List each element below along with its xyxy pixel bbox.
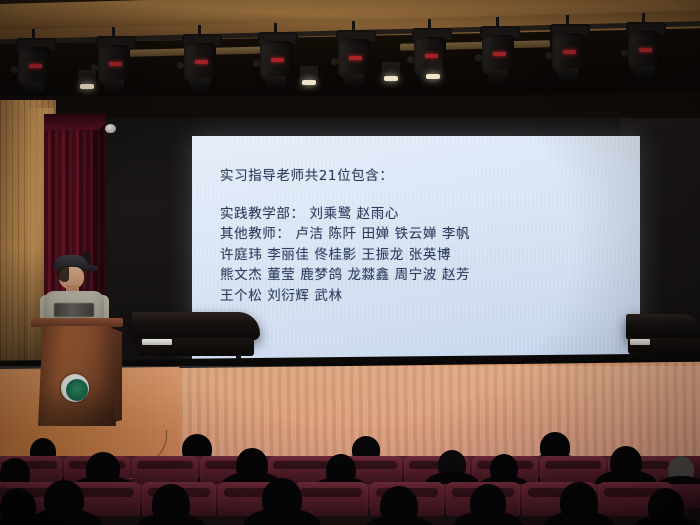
fixture-lens	[634, 66, 654, 80]
fixture-body	[628, 31, 660, 71]
piano-lid	[132, 312, 260, 340]
stage-light-fixture	[624, 22, 664, 84]
ceiling-spotlight-box	[300, 66, 318, 86]
slide-content: 实习指导老师共21位包含： 实践教学部： 刘乘鹭 赵雨心 其他教师： 卢洁 陈阡…	[220, 166, 626, 306]
audience-head	[470, 484, 506, 522]
slide-title: 实习指导老师共21位包含：	[220, 166, 626, 187]
fixture-lens	[344, 74, 364, 88]
audience-area	[0, 432, 700, 525]
audience-head	[44, 480, 84, 520]
fixture-knob	[407, 56, 414, 63]
fixture-knob	[475, 54, 482, 61]
ceiling-spotlight-box	[424, 60, 442, 80]
fixture-knob	[545, 52, 552, 59]
ceiling-spotlight-box	[382, 62, 400, 82]
stage-light-fixture	[180, 34, 220, 96]
fixture-led-indicator	[639, 48, 652, 52]
audience-head	[152, 484, 190, 524]
audience-head	[236, 448, 268, 482]
fixture-body	[18, 47, 50, 87]
fixture-led-indicator	[271, 58, 284, 62]
stage-light-fixture	[94, 36, 134, 98]
slide-line-3: 许庭玮 李丽佳 佟桂影 王振龙 张英博	[220, 245, 626, 266]
podium-top-surface	[31, 318, 123, 327]
fixture-lens	[24, 82, 44, 96]
audience-head	[490, 454, 518, 484]
audience-head	[262, 478, 302, 520]
fixture-led-indicator	[493, 52, 506, 56]
stage-light-fixture	[14, 38, 54, 100]
fixture-body	[260, 41, 292, 81]
fixture-knob	[11, 66, 18, 73]
spotlight-glow	[80, 84, 94, 89]
fixture-led-indicator	[195, 60, 208, 64]
audience-head	[380, 486, 418, 525]
stage-light-fixture	[410, 28, 450, 90]
audience-head	[668, 456, 694, 484]
presenter-shirt-print	[54, 303, 94, 317]
fixture-body	[98, 45, 130, 85]
fixture-lens	[266, 76, 286, 90]
fixture-knob	[621, 50, 628, 57]
school-emblem	[61, 374, 89, 402]
stage-light-fixture	[256, 32, 296, 94]
audience-head	[0, 488, 36, 525]
audience-head	[610, 446, 642, 480]
fixture-body	[482, 35, 514, 75]
wooden-podium	[34, 318, 120, 426]
fixture-knob	[177, 62, 184, 69]
ceiling-camera-dome	[105, 124, 116, 133]
piano-keyboard	[142, 339, 172, 345]
fixture-led-indicator	[425, 54, 438, 58]
spotlight-glow	[426, 74, 440, 79]
audience-head	[648, 488, 684, 525]
piano-keyboard	[630, 339, 650, 345]
slide-line-4: 熊文杰 董莹 鹿梦鸽 龙㵘鑫 周宁波 赵芳	[220, 265, 626, 286]
stage-curtain-valance	[44, 114, 106, 130]
auditorium-scene: 实习指导老师共21位包含： 实践教学部： 刘乘鹭 赵雨心 其他教师： 卢洁 陈阡…	[0, 0, 700, 525]
fixture-led-indicator	[109, 62, 122, 66]
fixture-led-indicator	[563, 50, 576, 54]
stage-light-fixture	[334, 30, 374, 92]
fixture-knob	[331, 58, 338, 65]
stage-light-fixture	[478, 26, 518, 88]
fixture-lens	[190, 78, 210, 92]
audience-head	[86, 452, 120, 486]
fixture-led-indicator	[29, 64, 42, 68]
fixture-body	[552, 33, 584, 73]
audience-head	[560, 482, 598, 522]
ceiling-spotlight-box	[78, 70, 96, 90]
spotlight-glow	[384, 76, 398, 81]
fixture-lens	[558, 68, 578, 82]
audience-head	[438, 450, 466, 480]
presenter-hair	[57, 266, 69, 282]
fixture-led-indicator	[349, 56, 362, 60]
spotlight-glow	[302, 80, 316, 85]
stage-light-fixture	[548, 24, 588, 86]
fixture-body	[338, 39, 370, 79]
slide-line-5: 王个松 刘衍辉 武林	[220, 286, 626, 307]
slide-line-2: 其他教师： 卢洁 陈阡 田婵 铁云婵 李帆	[220, 224, 626, 245]
fixture-knob	[253, 60, 260, 67]
fixture-lens	[104, 80, 124, 94]
fixture-lens	[488, 70, 508, 84]
piano-lid	[626, 314, 700, 340]
fixture-body	[184, 43, 216, 83]
slide-line-1: 实践教学部： 刘乘鹭 赵雨心	[220, 204, 626, 225]
